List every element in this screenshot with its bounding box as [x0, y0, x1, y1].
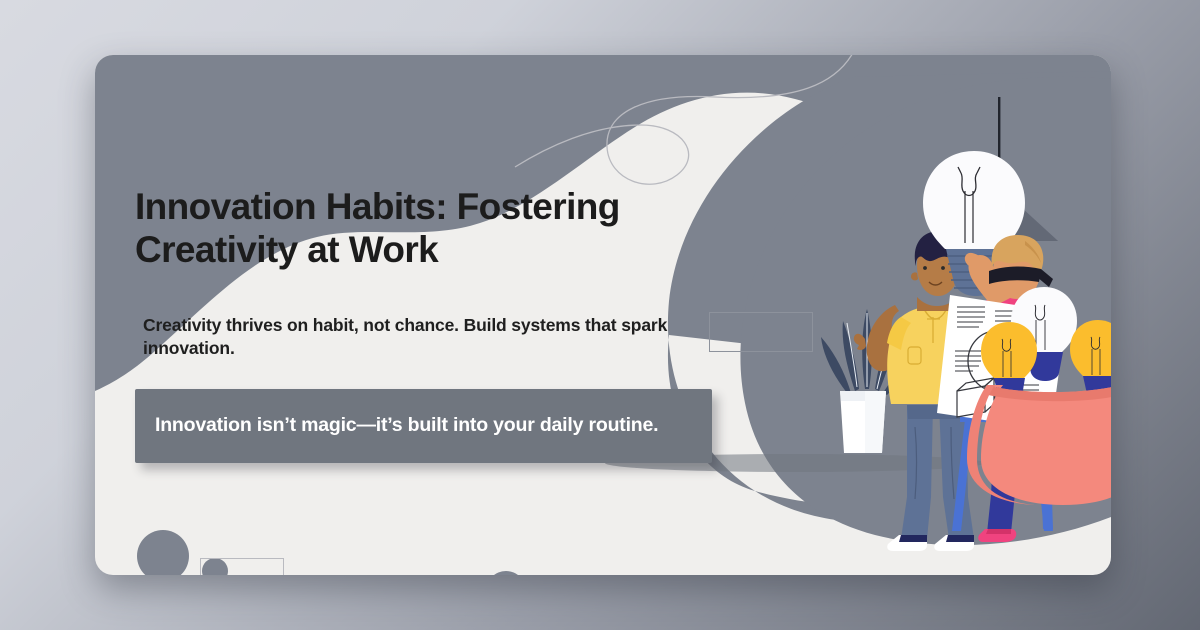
page-title: Innovation Habits: Fostering Creativity …: [135, 185, 735, 272]
highlight-quote-bar: Innovation isn’t magic—it’s built into y…: [135, 389, 712, 463]
subtitle-text: Creativity thrives on habit, not chance.…: [143, 314, 691, 361]
text-column: Innovation Habits: Fostering Creativity …: [135, 185, 735, 463]
circle-large-left: [137, 530, 189, 575]
quote-text: Innovation isn’t magic—it’s built into y…: [155, 413, 658, 439]
presentation-card: Innovation Habits: Fostering Creativity …: [95, 55, 1111, 575]
outline-rect-upper: [200, 558, 284, 575]
